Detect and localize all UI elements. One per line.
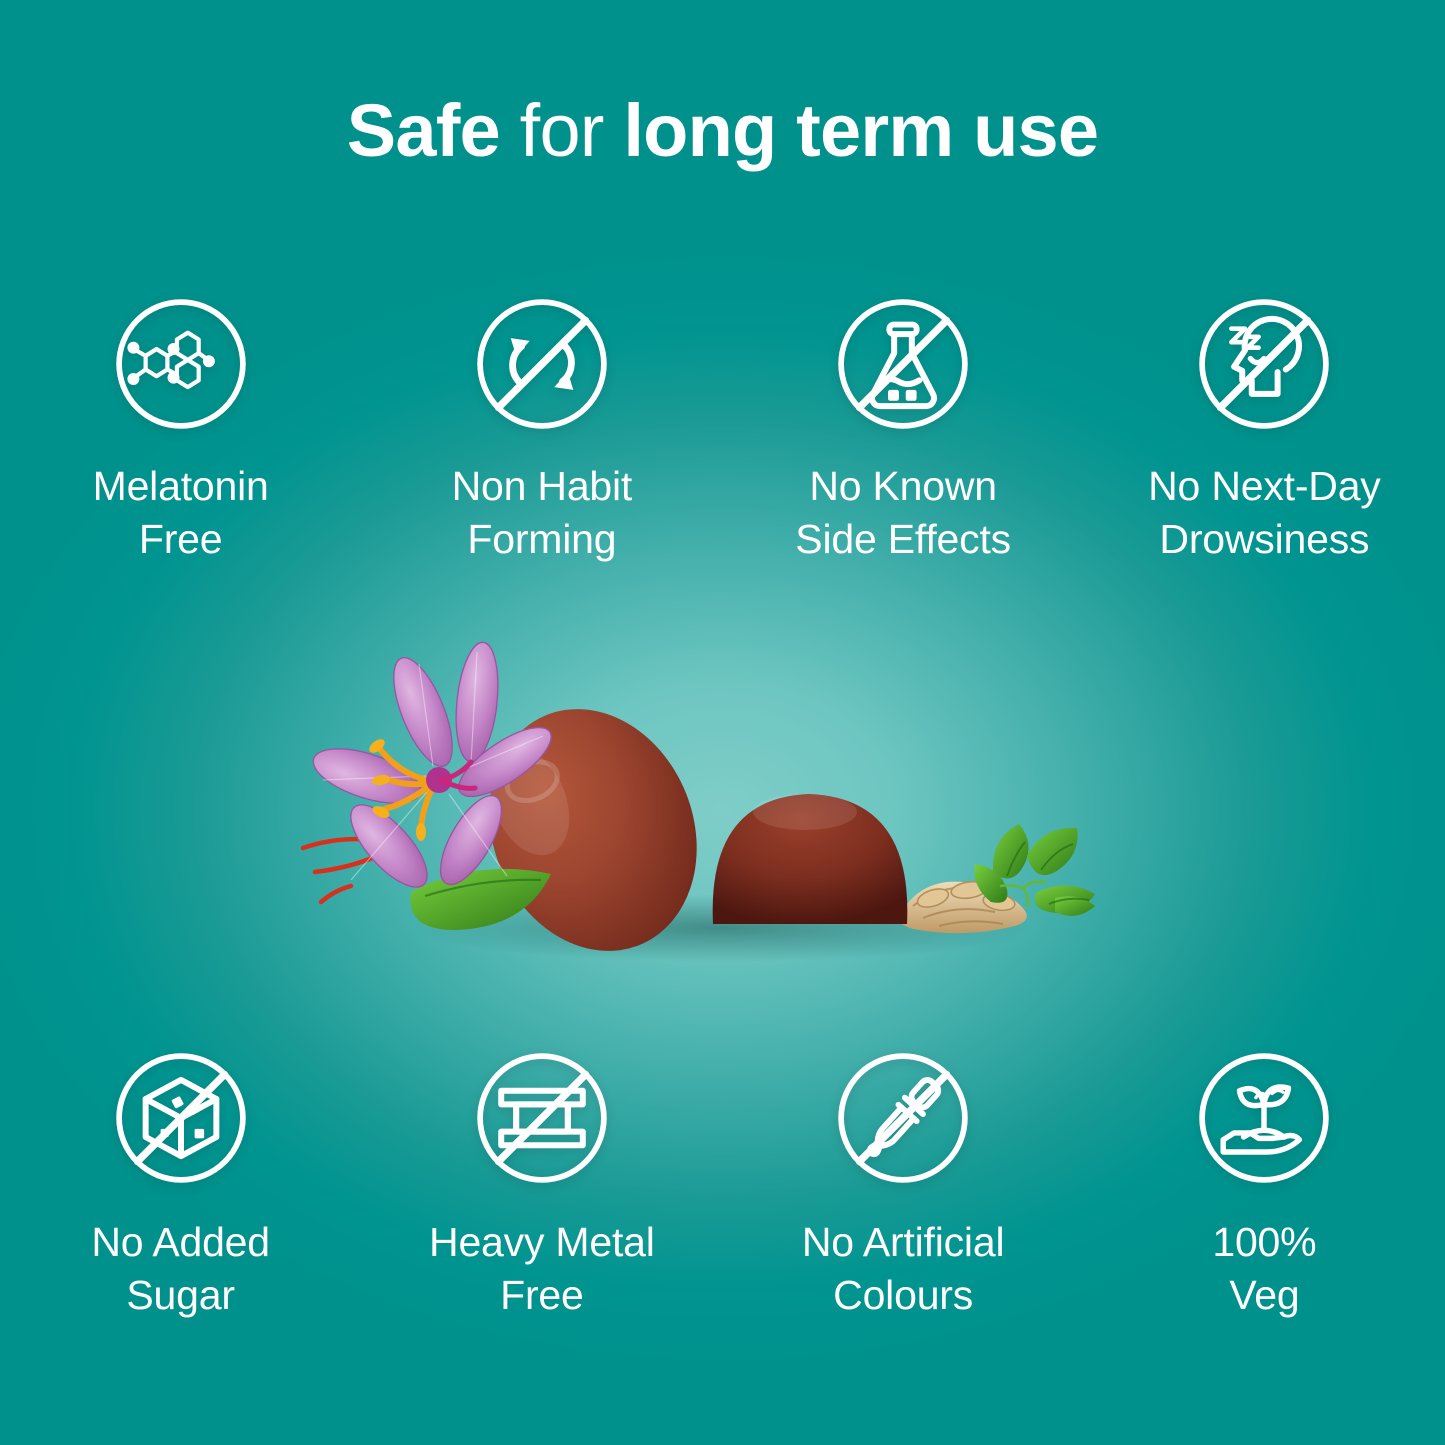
tulsi-leaves — [974, 824, 1095, 916]
title-part-1: Safe — [347, 89, 500, 172]
title-part-3: long term use — [623, 89, 1098, 172]
hand-sprout-icon — [1196, 1050, 1332, 1186]
feature-heavy-metal-free[interactable]: Heavy Metal Free — [361, 1050, 722, 1323]
dropper-icon — [835, 1050, 971, 1186]
feature-melatonin-free[interactable]: Melatonin Free — [0, 296, 361, 567]
sugar-cube-icon — [113, 1050, 249, 1186]
feature-label: No Added Sugar — [91, 1216, 270, 1323]
product-gummies-with-botanicals — [293, 640, 1153, 990]
feature-label: No Artificial Colours — [802, 1216, 1004, 1323]
feature-label: Melatonin Free — [93, 460, 269, 567]
molecule-icon — [113, 296, 249, 432]
feature-no-known-side-effects[interactable]: No Known Side Effects — [723, 296, 1084, 567]
repeat-arrows-icon — [474, 296, 610, 432]
feature-label: Non Habit Forming — [452, 460, 633, 567]
feature-label: No Known Side Effects — [795, 460, 1011, 567]
feature-label: No Next-Day Drowsiness — [1148, 460, 1380, 567]
metal-ingot-icon — [474, 1050, 610, 1186]
feature-no-next-day-drowsiness[interactable]: No Next-Day Drowsiness — [1084, 296, 1445, 567]
infographic-canvas: Safe for long term use — [0, 0, 1445, 1445]
feature-100-percent-veg[interactable]: 100% Veg — [1084, 1050, 1445, 1323]
product-hero — [0, 640, 1445, 1000]
feature-no-artificial-colours[interactable]: No Artificial Colours — [723, 1050, 1084, 1323]
title-part-2: for — [500, 89, 623, 172]
feature-no-added-sugar[interactable]: No Added Sugar — [0, 1050, 361, 1323]
feature-label: Heavy Metal Free — [429, 1216, 655, 1323]
feature-non-habit-forming[interactable]: Non Habit Forming — [361, 296, 722, 567]
feature-row-top: Melatonin Free Non Habit Forming — [0, 296, 1445, 567]
page-title: Safe for long term use — [0, 92, 1445, 170]
feature-label: 100% Veg — [1212, 1216, 1316, 1323]
flask-icon — [835, 296, 971, 432]
feature-row-bottom: No Added Sugar Heavy Metal Free — [0, 1050, 1445, 1323]
sleepy-head-zzz-icon — [1196, 296, 1332, 432]
ashwagandha-roots — [899, 880, 1027, 934]
